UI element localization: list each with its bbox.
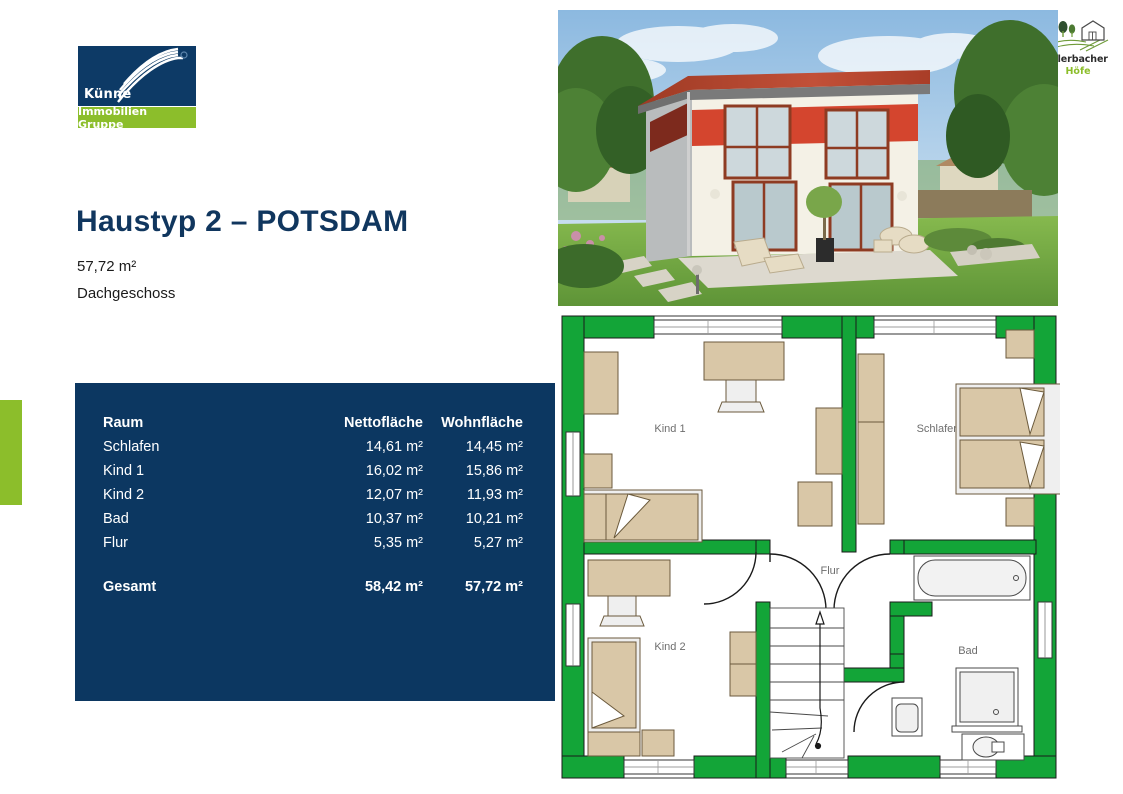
staircase	[770, 608, 844, 758]
table-row: Schlafen 14,61 m² 14,45 m²	[103, 435, 523, 459]
cell-netto: 10,37 m²	[303, 507, 423, 531]
col-header-wohn: Wohnfläche	[423, 411, 523, 435]
room-schedule-panel: Raum Nettofläche Wohnfläche Schlafen 14,…	[75, 383, 555, 701]
table-total-row: Gesamt 58,42 m² 57,72 m²	[103, 575, 523, 599]
col-header-netto: Nettofläche	[303, 411, 423, 435]
room-label-bad: Bad	[958, 645, 978, 657]
cell-room: Schlafen	[103, 435, 303, 459]
kuenne-wordmark: Künne	[84, 87, 131, 102]
tree-icons	[1059, 21, 1076, 37]
slide-page: Künne Immobilien Gruppe	[0, 0, 1123, 794]
cell-total-label: Gesamt	[103, 575, 303, 599]
cell-wohn: 14,45 m²	[423, 435, 523, 459]
house-exterior-photo	[558, 10, 1058, 306]
room-label-kind1: Kind 1	[654, 423, 685, 435]
room-label-schlafen: Schlafen	[917, 423, 960, 435]
cell-wohn: 15,86 m²	[423, 459, 523, 483]
table-row: Flur 5,35 m² 5,27 m²	[103, 531, 523, 555]
cell-netto: 5,35 m²	[303, 531, 423, 555]
kuenne-logo-top: Künne	[78, 46, 196, 106]
flur-closet	[856, 476, 882, 524]
green-accent-bar	[0, 400, 22, 505]
house-outline	[1082, 21, 1104, 40]
kuenne-logo: Künne Immobilien Gruppe	[78, 46, 196, 128]
cell-room: Flur	[103, 531, 303, 555]
house-render	[558, 10, 1058, 306]
room-label-kind2: Kind 2	[654, 641, 685, 653]
cell-netto: 14,61 m²	[303, 435, 423, 459]
table-header-row: Raum Nettofläche Wohnfläche	[103, 411, 523, 435]
hall-cabinet	[798, 482, 832, 526]
cell-wohn: 11,93 m²	[423, 483, 523, 507]
cell-room: Kind 1	[103, 459, 303, 483]
floor-level-label: Dachgeschoss	[77, 285, 175, 302]
table-spacer-row	[103, 555, 523, 575]
cell-wohn: 10,21 m²	[423, 507, 523, 531]
cell-total-wohn: 57,72 m²	[423, 575, 523, 599]
cell-netto: 16,02 m²	[303, 459, 423, 483]
table-row: Kind 1 16,02 m² 15,86 m²	[103, 459, 523, 483]
floor-plan-drawing: Kind 1	[558, 312, 1060, 782]
cell-room: Bad	[103, 507, 303, 531]
kuenne-subtitle: Immobilien Gruppe	[78, 107, 196, 128]
cell-room: Kind 2	[103, 483, 303, 507]
cell-netto: 12,07 m²	[303, 483, 423, 507]
floor-plan: Kind 1	[558, 312, 1060, 782]
page-title: Haustyp 2 – POTSDAM	[76, 205, 408, 239]
cell-wohn: 5,27 m²	[423, 531, 523, 555]
table-row: Bad 10,37 m² 10,21 m²	[103, 507, 523, 531]
col-header-room: Raum	[103, 411, 303, 435]
cell-total-netto: 58,42 m²	[303, 575, 423, 599]
total-area-label: 57,72 m²	[77, 258, 136, 275]
room-label-flur: Flur	[821, 565, 840, 577]
table-row: Kind 2 12,07 m² 11,93 m²	[103, 483, 523, 507]
room-flur: Flur	[821, 565, 840, 577]
room-schedule-table: Raum Nettofläche Wohnfläche Schlafen 14,…	[103, 411, 523, 599]
